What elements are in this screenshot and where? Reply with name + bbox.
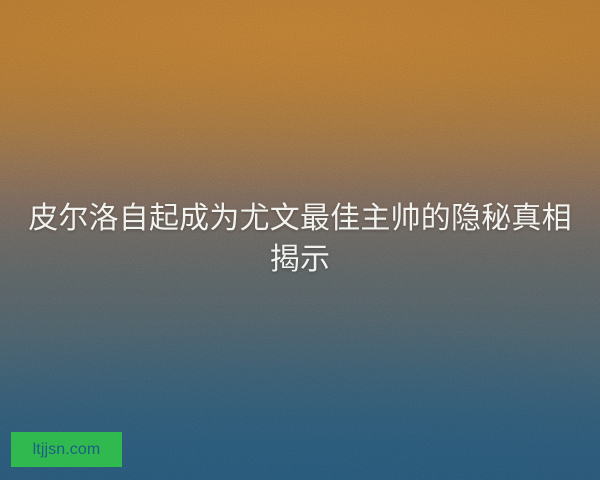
cover-headline: 皮尔洛自起成为尤文最佳主帅的隐秘真相揭示 xyxy=(0,198,600,280)
watermark-label: ltjjsn.com xyxy=(33,442,101,458)
watermark-badge: ltjjsn.com xyxy=(11,432,122,467)
article-cover-image: 皮尔洛自起成为尤文最佳主帅的隐秘真相揭示 ltjjsn.com xyxy=(0,0,600,480)
